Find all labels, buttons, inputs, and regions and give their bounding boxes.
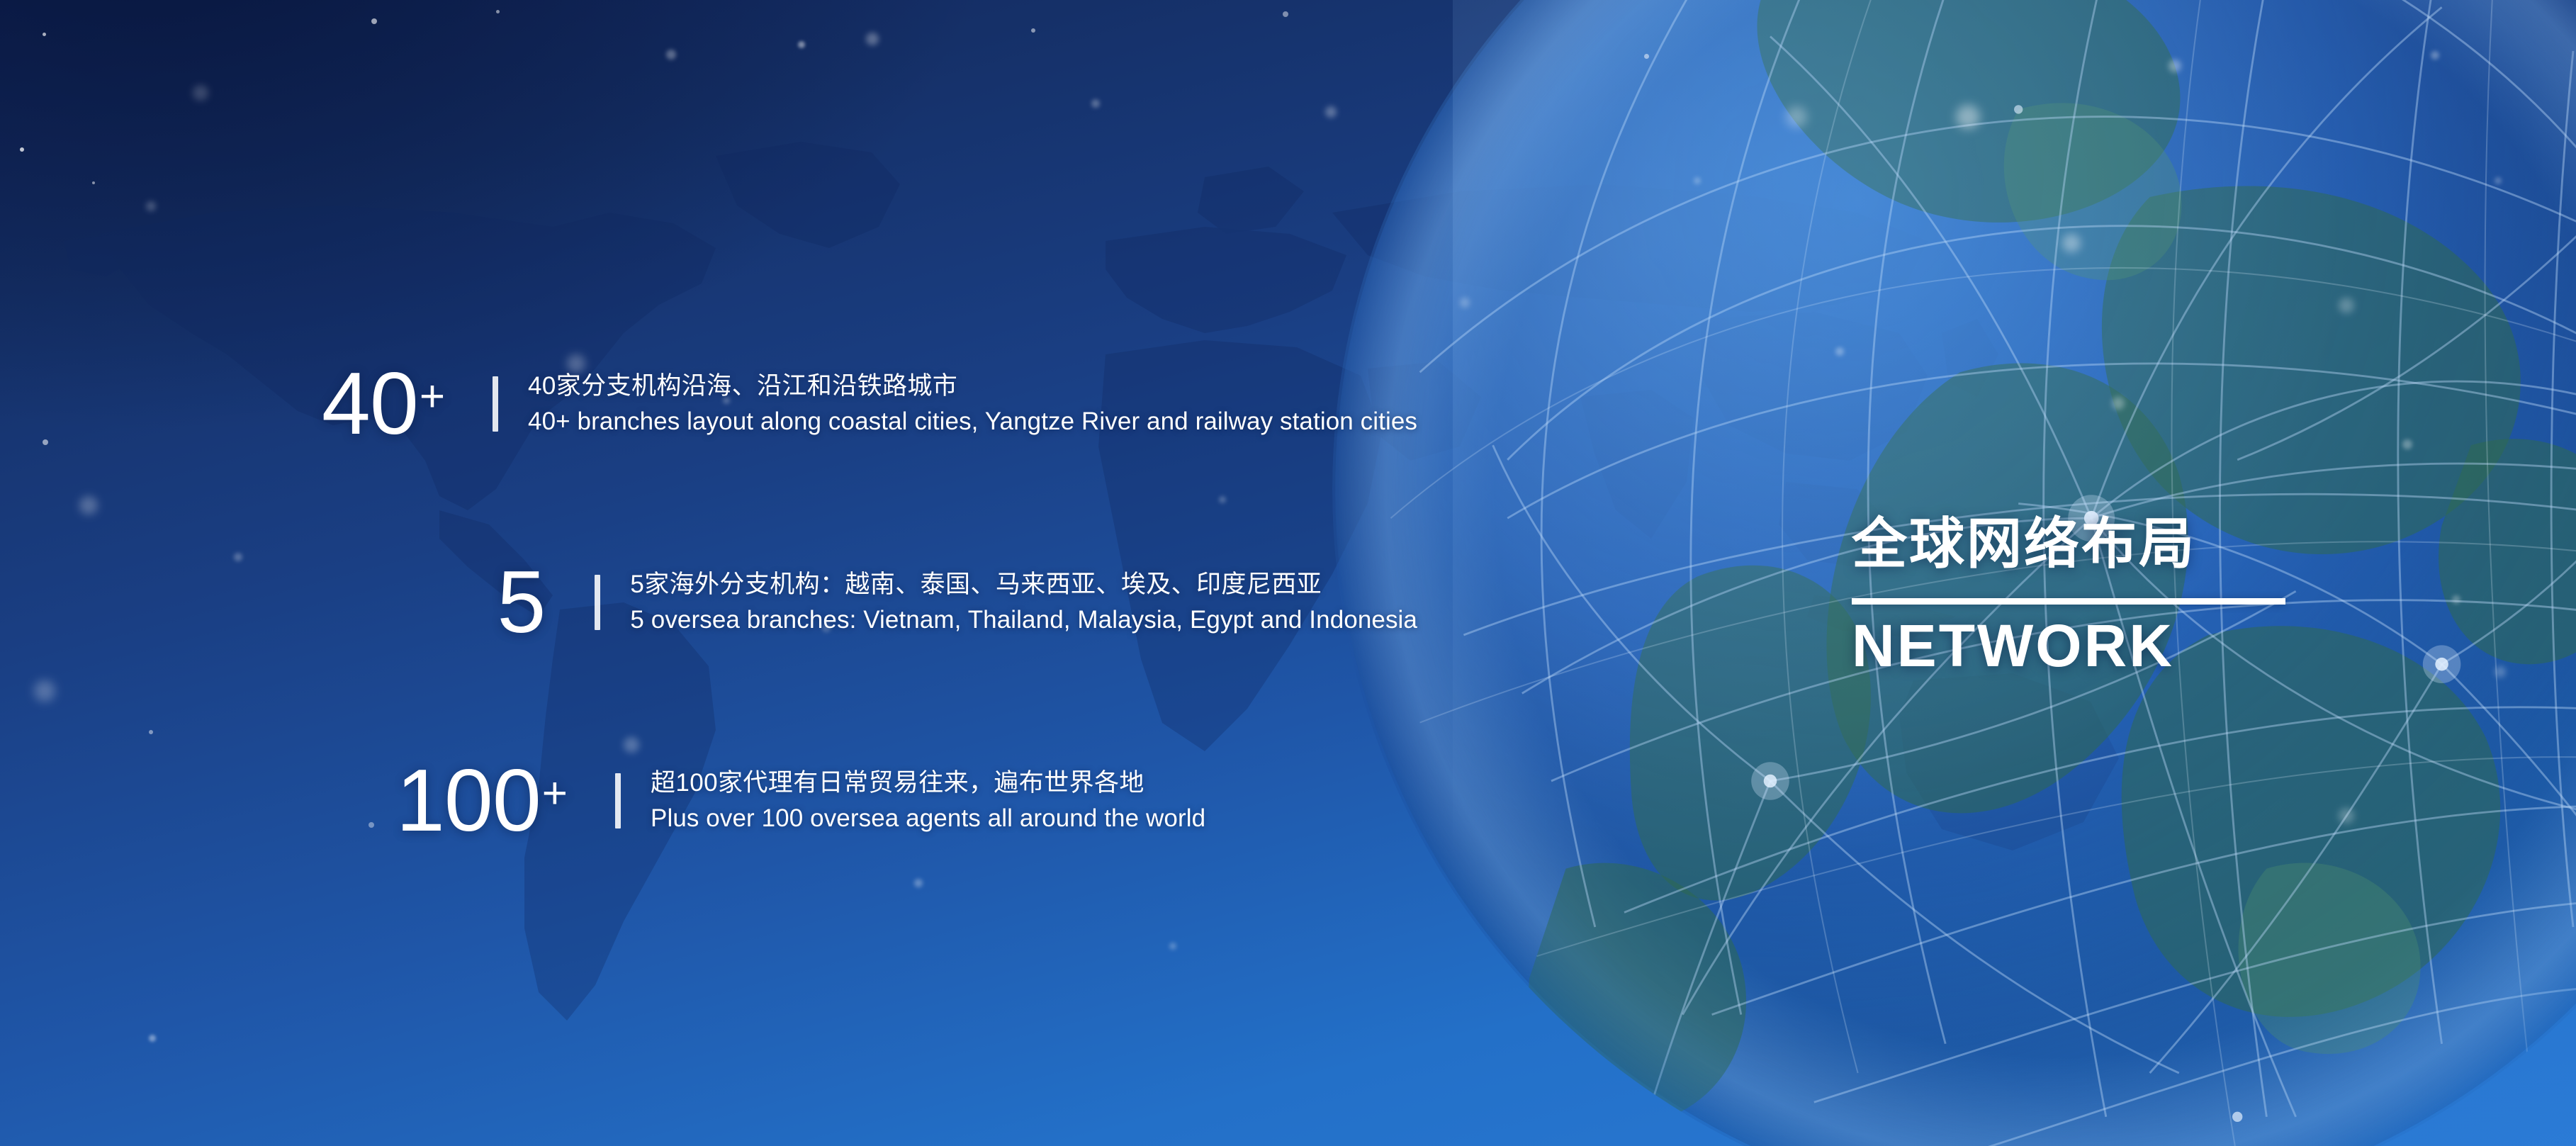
stat-number-value: 100 [396, 752, 541, 850]
brand-title-cn: 全球网络布局 [1852, 516, 2291, 571]
brand-heading: 全球网络布局 NETWORK [1852, 516, 2291, 675]
stat-number: 40+ [0, 360, 444, 448]
network-banner: 40+ 40家分支机构沿海、沿江和沿铁路城市 40+ branches layo… [0, 0, 2576, 1146]
stat-text-en: 5 oversea branches: Vietnam, Thailand, M… [630, 602, 1417, 638]
stat-number-value: 40 [322, 355, 418, 453]
stat-number: 5 [0, 558, 546, 646]
stat-divider-bar [615, 773, 621, 828]
stat-number-suffix: + [542, 769, 567, 818]
stat-text: 超100家代理有日常贸易往来，遍布世界各地 Plus over 100 over… [651, 765, 1205, 836]
stat-number-value: 5 [497, 554, 545, 651]
stat-text-en: Plus over 100 oversea agents all around … [651, 801, 1205, 836]
stat-divider-bar [493, 376, 498, 432]
brand-title-en: NETWORK [1852, 616, 2291, 675]
stat-number: 100+ [0, 757, 567, 845]
stat-text-en: 40+ branches layout along coastal cities… [528, 404, 1417, 439]
stat-text-cn: 40家分支机构沿海、沿江和沿铁路城市 [528, 369, 1417, 404]
stat-row: 100+ 超100家代理有日常贸易往来，遍布世界各地 Plus over 100… [0, 702, 1417, 900]
stat-text: 40家分支机构沿海、沿江和沿铁路城市 40+ branches layout a… [528, 369, 1417, 439]
stat-number-suffix: + [420, 372, 444, 421]
stat-divider-bar [595, 575, 600, 630]
stat-text-cn: 5家海外分支机构：越南、泰国、马来西亚、埃及、印度尼西亚 [630, 567, 1417, 602]
stat-text: 5家海外分支机构：越南、泰国、马来西亚、埃及、印度尼西亚 5 oversea b… [630, 567, 1417, 637]
stat-row: 5 5家海外分支机构：越南、泰国、马来西亚、埃及、印度尼西亚 5 oversea… [0, 503, 1417, 702]
stat-row: 40+ 40家分支机构沿海、沿江和沿铁路城市 40+ branches layo… [0, 305, 1417, 503]
stat-text-cn: 超100家代理有日常贸易往来，遍布世界各地 [651, 765, 1205, 801]
brand-rule [1852, 598, 2285, 605]
stats-list: 40+ 40家分支机构沿海、沿江和沿铁路城市 40+ branches layo… [0, 305, 1417, 900]
